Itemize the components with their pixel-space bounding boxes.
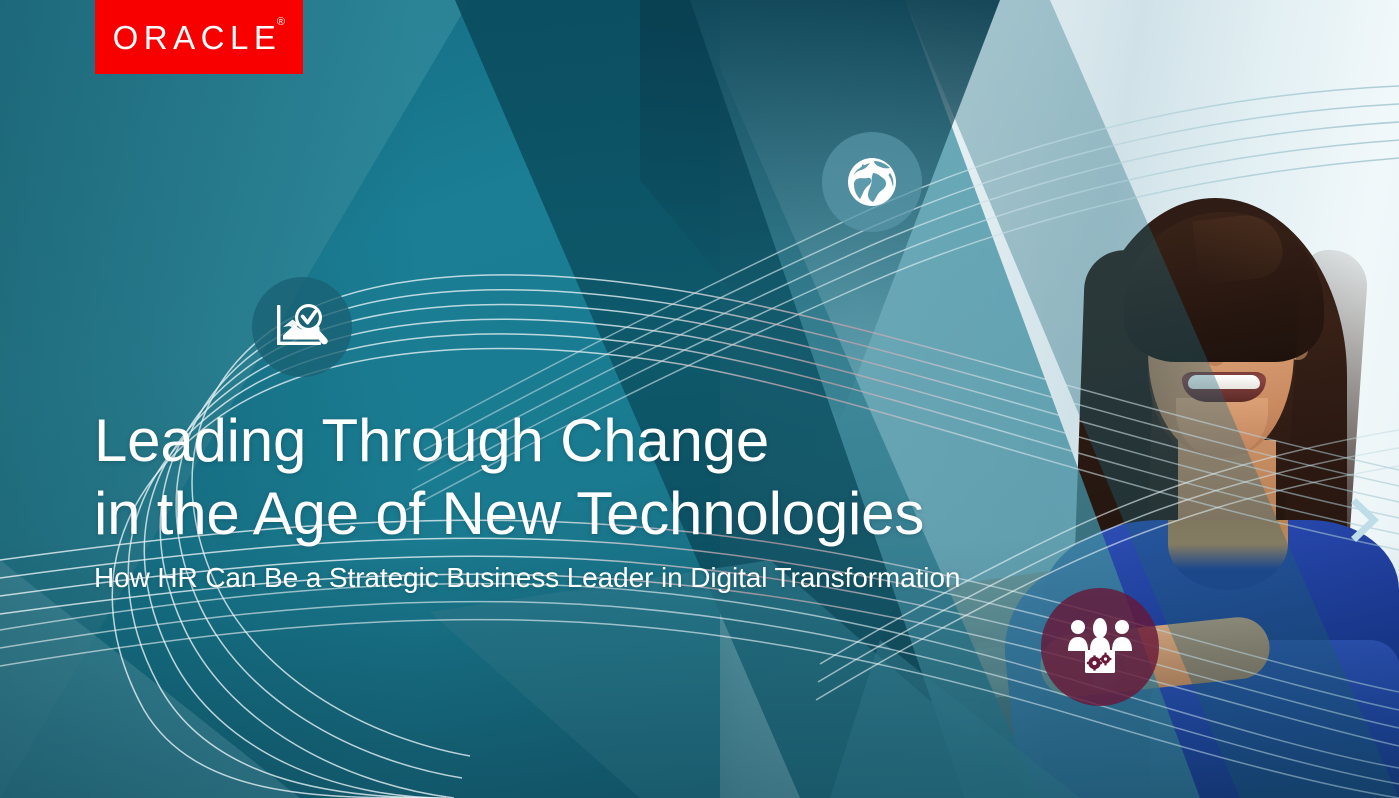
next-slide-button[interactable]	[1345, 492, 1389, 548]
hero-subtitle: How HR Can Be a Strategic Business Leade…	[94, 561, 1074, 595]
chevron-right-icon	[1349, 495, 1385, 545]
hero-title-line-1: Leading Through Change	[94, 404, 1074, 477]
globe-badge	[822, 132, 922, 232]
registered-trademark-icon: ®	[277, 16, 285, 28]
team-gears-icon	[1067, 617, 1133, 677]
hero-title-line-2: in the Age of New Technologies	[94, 477, 1074, 550]
analytics-magnifier-icon	[274, 301, 330, 353]
analytics-badge	[252, 277, 352, 377]
oracle-wordmark: ORACLE	[113, 21, 286, 54]
globe-icon	[843, 153, 901, 211]
oracle-logo[interactable]: ORACLE ®	[95, 0, 303, 74]
hero-text-block: Leading Through Change in the Age of New…	[94, 404, 1074, 595]
team-badge	[1041, 588, 1159, 706]
diagonal-band-overlay	[0, 0, 1399, 798]
hero-banner: ORACLE ® Leading Through Change in the A…	[0, 0, 1399, 798]
